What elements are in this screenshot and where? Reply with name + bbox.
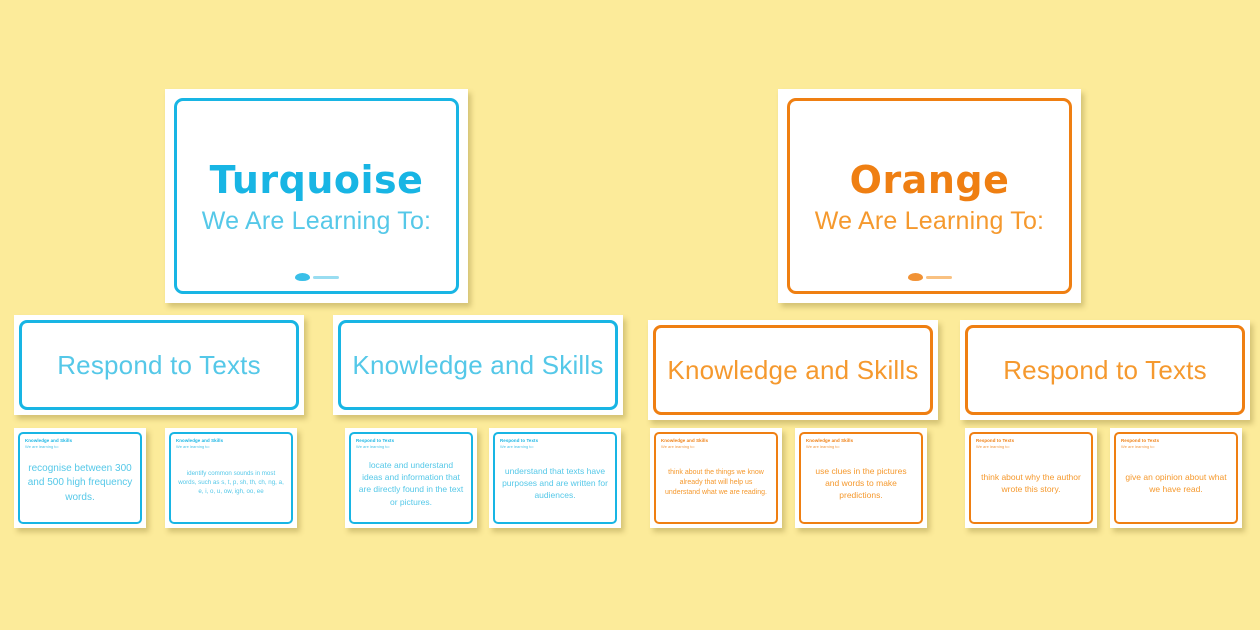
objective-card[interactable]: Knowledge and Skills We are learning to:… [14,428,146,528]
objective-card-prompt: We are learning to: [25,444,135,449]
objective-card[interactable]: Respond to Texts We are learning to: giv… [1110,428,1242,528]
heading-card-label: Respond to Texts [57,350,261,381]
objective-card-header: Knowledge and Skills We are learning to: [661,438,771,449]
twinkl-mark-icon [908,273,923,281]
poster-turquoise[interactable]: Turquoise We Are Learning To: [165,89,468,303]
objective-card[interactable]: Respond to Texts We are learning to: und… [489,428,621,528]
objective-card-prompt: We are learning to: [806,444,916,449]
objective-card-text: give an opinion about what we have read. [1121,449,1231,519]
objective-card-text: identify common sounds in most words, su… [176,449,286,519]
objective-card-header: Knowledge and Skills We are learning to: [806,438,916,449]
objective-card-text: think about why the author wrote this st… [976,449,1086,519]
objective-card-prompt: We are learning to: [1121,444,1231,449]
heading-card-respond-to-texts[interactable]: Respond to Texts [14,315,304,415]
twinkl-logo [908,273,952,281]
objective-card-prompt: We are learning to: [661,444,771,449]
objective-card-header: Knowledge and Skills We are learning to: [25,438,135,449]
objective-card-prompt: We are learning to: [176,444,286,449]
objective-card-prompt: We are learning to: [356,444,466,449]
heading-card-label: Knowledge and Skills [667,355,918,386]
objective-card[interactable]: Respond to Texts We are learning to: loc… [345,428,477,528]
twinkl-mark-icon [295,273,310,281]
heading-card-label: Knowledge and Skills [352,350,603,381]
heading-card-respond-to-texts[interactable]: Respond to Texts [960,320,1250,420]
poster-subtitle: We Are Learning To: [202,207,431,236]
objective-card-header: Respond to Texts We are learning to: [1121,438,1231,449]
objective-card-text: understand that texts have purposes and … [500,449,610,519]
display-board: Turquoise We Are Learning To: Orange We … [0,0,1260,630]
heading-card-knowledge-and-skills[interactable]: Knowledge and Skills [333,315,623,415]
poster-orange[interactable]: Orange We Are Learning To: [778,89,1081,303]
objective-card-text: think about the things we know already t… [661,449,771,519]
poster-title: Turquoise [210,161,424,199]
objective-card-header: Knowledge and Skills We are learning to: [176,438,286,449]
objective-card-header: Respond to Texts We are learning to: [356,438,466,449]
objective-card[interactable]: Knowledge and Skills We are learning to:… [795,428,927,528]
objective-card-header: Respond to Texts We are learning to: [976,438,1086,449]
heading-card-knowledge-and-skills[interactable]: Knowledge and Skills [648,320,938,420]
objective-card-prompt: We are learning to: [500,444,610,449]
objective-card-text: recognise between 300 and 500 high frequ… [25,449,135,519]
objective-card-text: locate and understand ideas and informat… [356,449,466,519]
objective-card-text: use clues in the pictures and words to m… [806,449,916,519]
twinkl-wordmark [926,276,952,279]
objective-card[interactable]: Knowledge and Skills We are learning to:… [165,428,297,528]
twinkl-wordmark [313,276,339,279]
poster-title: Orange [850,161,1010,199]
objective-card-header: Respond to Texts We are learning to: [500,438,610,449]
poster-subtitle: We Are Learning To: [815,207,1044,236]
twinkl-logo [295,273,339,281]
heading-card-label: Respond to Texts [1003,355,1207,386]
objective-card[interactable]: Respond to Texts We are learning to: thi… [965,428,1097,528]
objective-card-prompt: We are learning to: [976,444,1086,449]
objective-card[interactable]: Knowledge and Skills We are learning to:… [650,428,782,528]
